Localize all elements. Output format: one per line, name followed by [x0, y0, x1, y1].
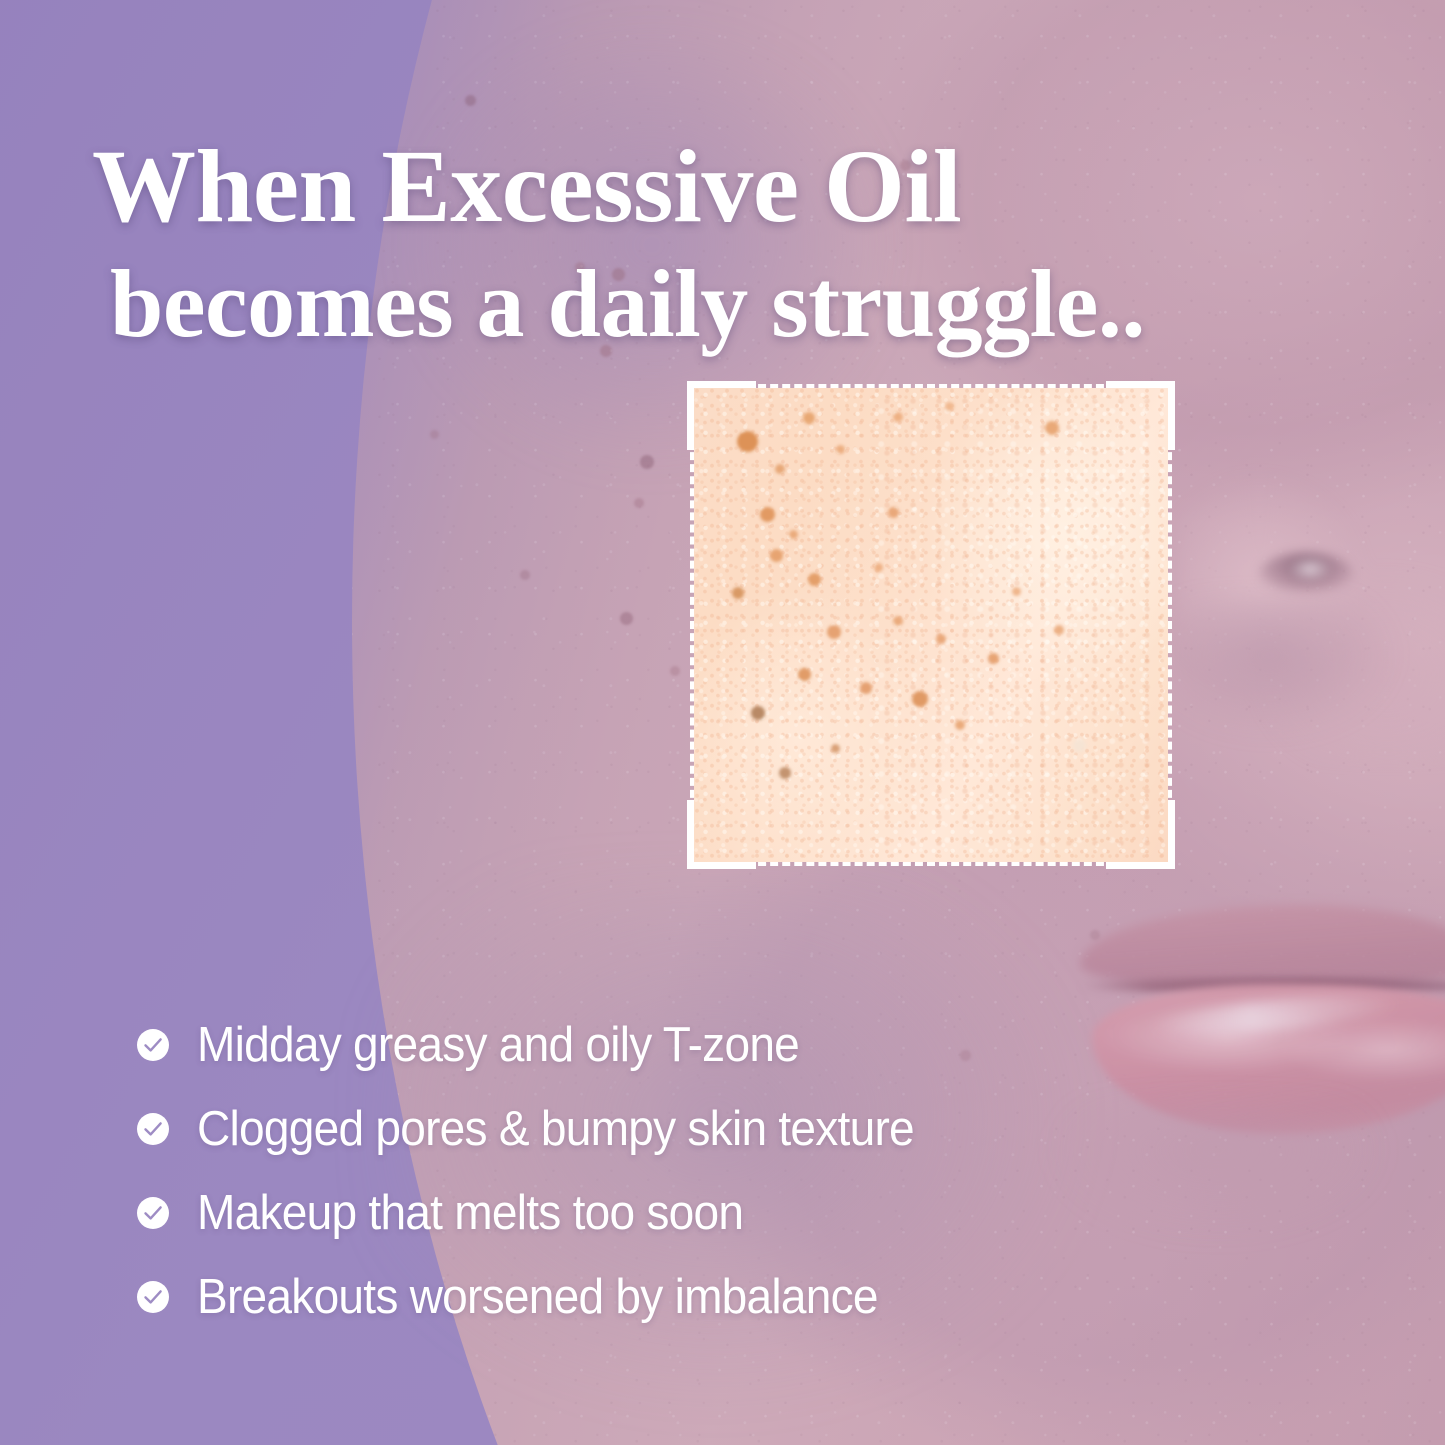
- face-blemish-spot: [900, 160, 911, 171]
- clogged-pore-spot: [775, 464, 785, 474]
- bumpy-texture-field: [874, 388, 1168, 862]
- clogged-pore-spot: [1012, 587, 1021, 596]
- face-blemish-spot: [600, 345, 612, 357]
- face-blemish-spot: [640, 455, 654, 469]
- clogged-pore-spot: [955, 720, 965, 730]
- pain-point-list: Midday greasy and oily T-zoneClogged por…: [96, 1019, 1136, 1324]
- face-blemish-spot: [575, 262, 585, 272]
- circle-check-icon: [136, 1112, 170, 1146]
- circle-check-icon: [136, 1028, 170, 1062]
- circle-check-icon: [136, 1280, 170, 1314]
- pain-point-item: Clogged pores & bumpy skin texture: [136, 1103, 1136, 1156]
- face-blemish-spot: [634, 498, 644, 508]
- face-blemish-spot: [465, 95, 476, 106]
- clogged-pore-spot: [888, 507, 899, 518]
- pain-point-label: Breakouts worsened by imbalance: [197, 1271, 878, 1324]
- clogged-pore-spot: [808, 573, 821, 586]
- clogged-pore-spot: [770, 549, 783, 562]
- pain-point-label: Midday greasy and oily T-zone: [197, 1019, 799, 1072]
- skincare-ad-creative: When Excessive Oil becomes a daily strug…: [0, 0, 1445, 1445]
- clogged-pore-spot: [893, 616, 903, 626]
- clogged-pore-spot: [798, 668, 811, 681]
- circle-check-icon: [136, 1196, 170, 1230]
- face-blemish-spot: [620, 612, 633, 625]
- face-blemish-spot: [670, 666, 680, 676]
- clogged-pore-spot: [836, 445, 845, 454]
- pain-point-item: Breakouts worsened by imbalance: [136, 1271, 1136, 1324]
- clogged-pore-spot: [893, 412, 903, 422]
- pain-point-item: Midday greasy and oily T-zone: [136, 1019, 1136, 1072]
- face-blemish-spot: [430, 430, 439, 439]
- nasolabial-fold: [1168, 600, 1445, 830]
- clogged-pore-spot: [831, 744, 840, 753]
- clogged-pore-spot: [737, 431, 758, 452]
- face-blemish-spot: [612, 268, 625, 281]
- clogged-pore-spot: [1045, 421, 1059, 435]
- face-blemish-spot: [760, 210, 769, 219]
- clogged-pore-spot: [803, 412, 815, 424]
- clogged-pore-spot: [827, 625, 841, 639]
- magnified-skin-patch: [694, 388, 1168, 862]
- clogged-pore-spot: [732, 587, 744, 599]
- clogged-pore-spot: [751, 706, 765, 720]
- face-blemish-spot: [1090, 930, 1100, 940]
- face-blemish-spot: [520, 570, 530, 580]
- clogged-pore-spot: [1073, 739, 1086, 752]
- face-blemish-spot: [1010, 300, 1020, 310]
- nose-highlight: [1288, 556, 1332, 582]
- pain-point-label: Clogged pores & bumpy skin texture: [197, 1103, 914, 1156]
- pain-point-item: Makeup that melts too soon: [136, 1187, 1136, 1240]
- pain-point-label: Makeup that melts too soon: [197, 1187, 743, 1240]
- clogged-pore-spot: [760, 507, 775, 522]
- skin-zoom-crop-frame: [694, 388, 1168, 862]
- clogged-pore-spot: [860, 682, 872, 694]
- clogged-pore-spot: [789, 530, 798, 539]
